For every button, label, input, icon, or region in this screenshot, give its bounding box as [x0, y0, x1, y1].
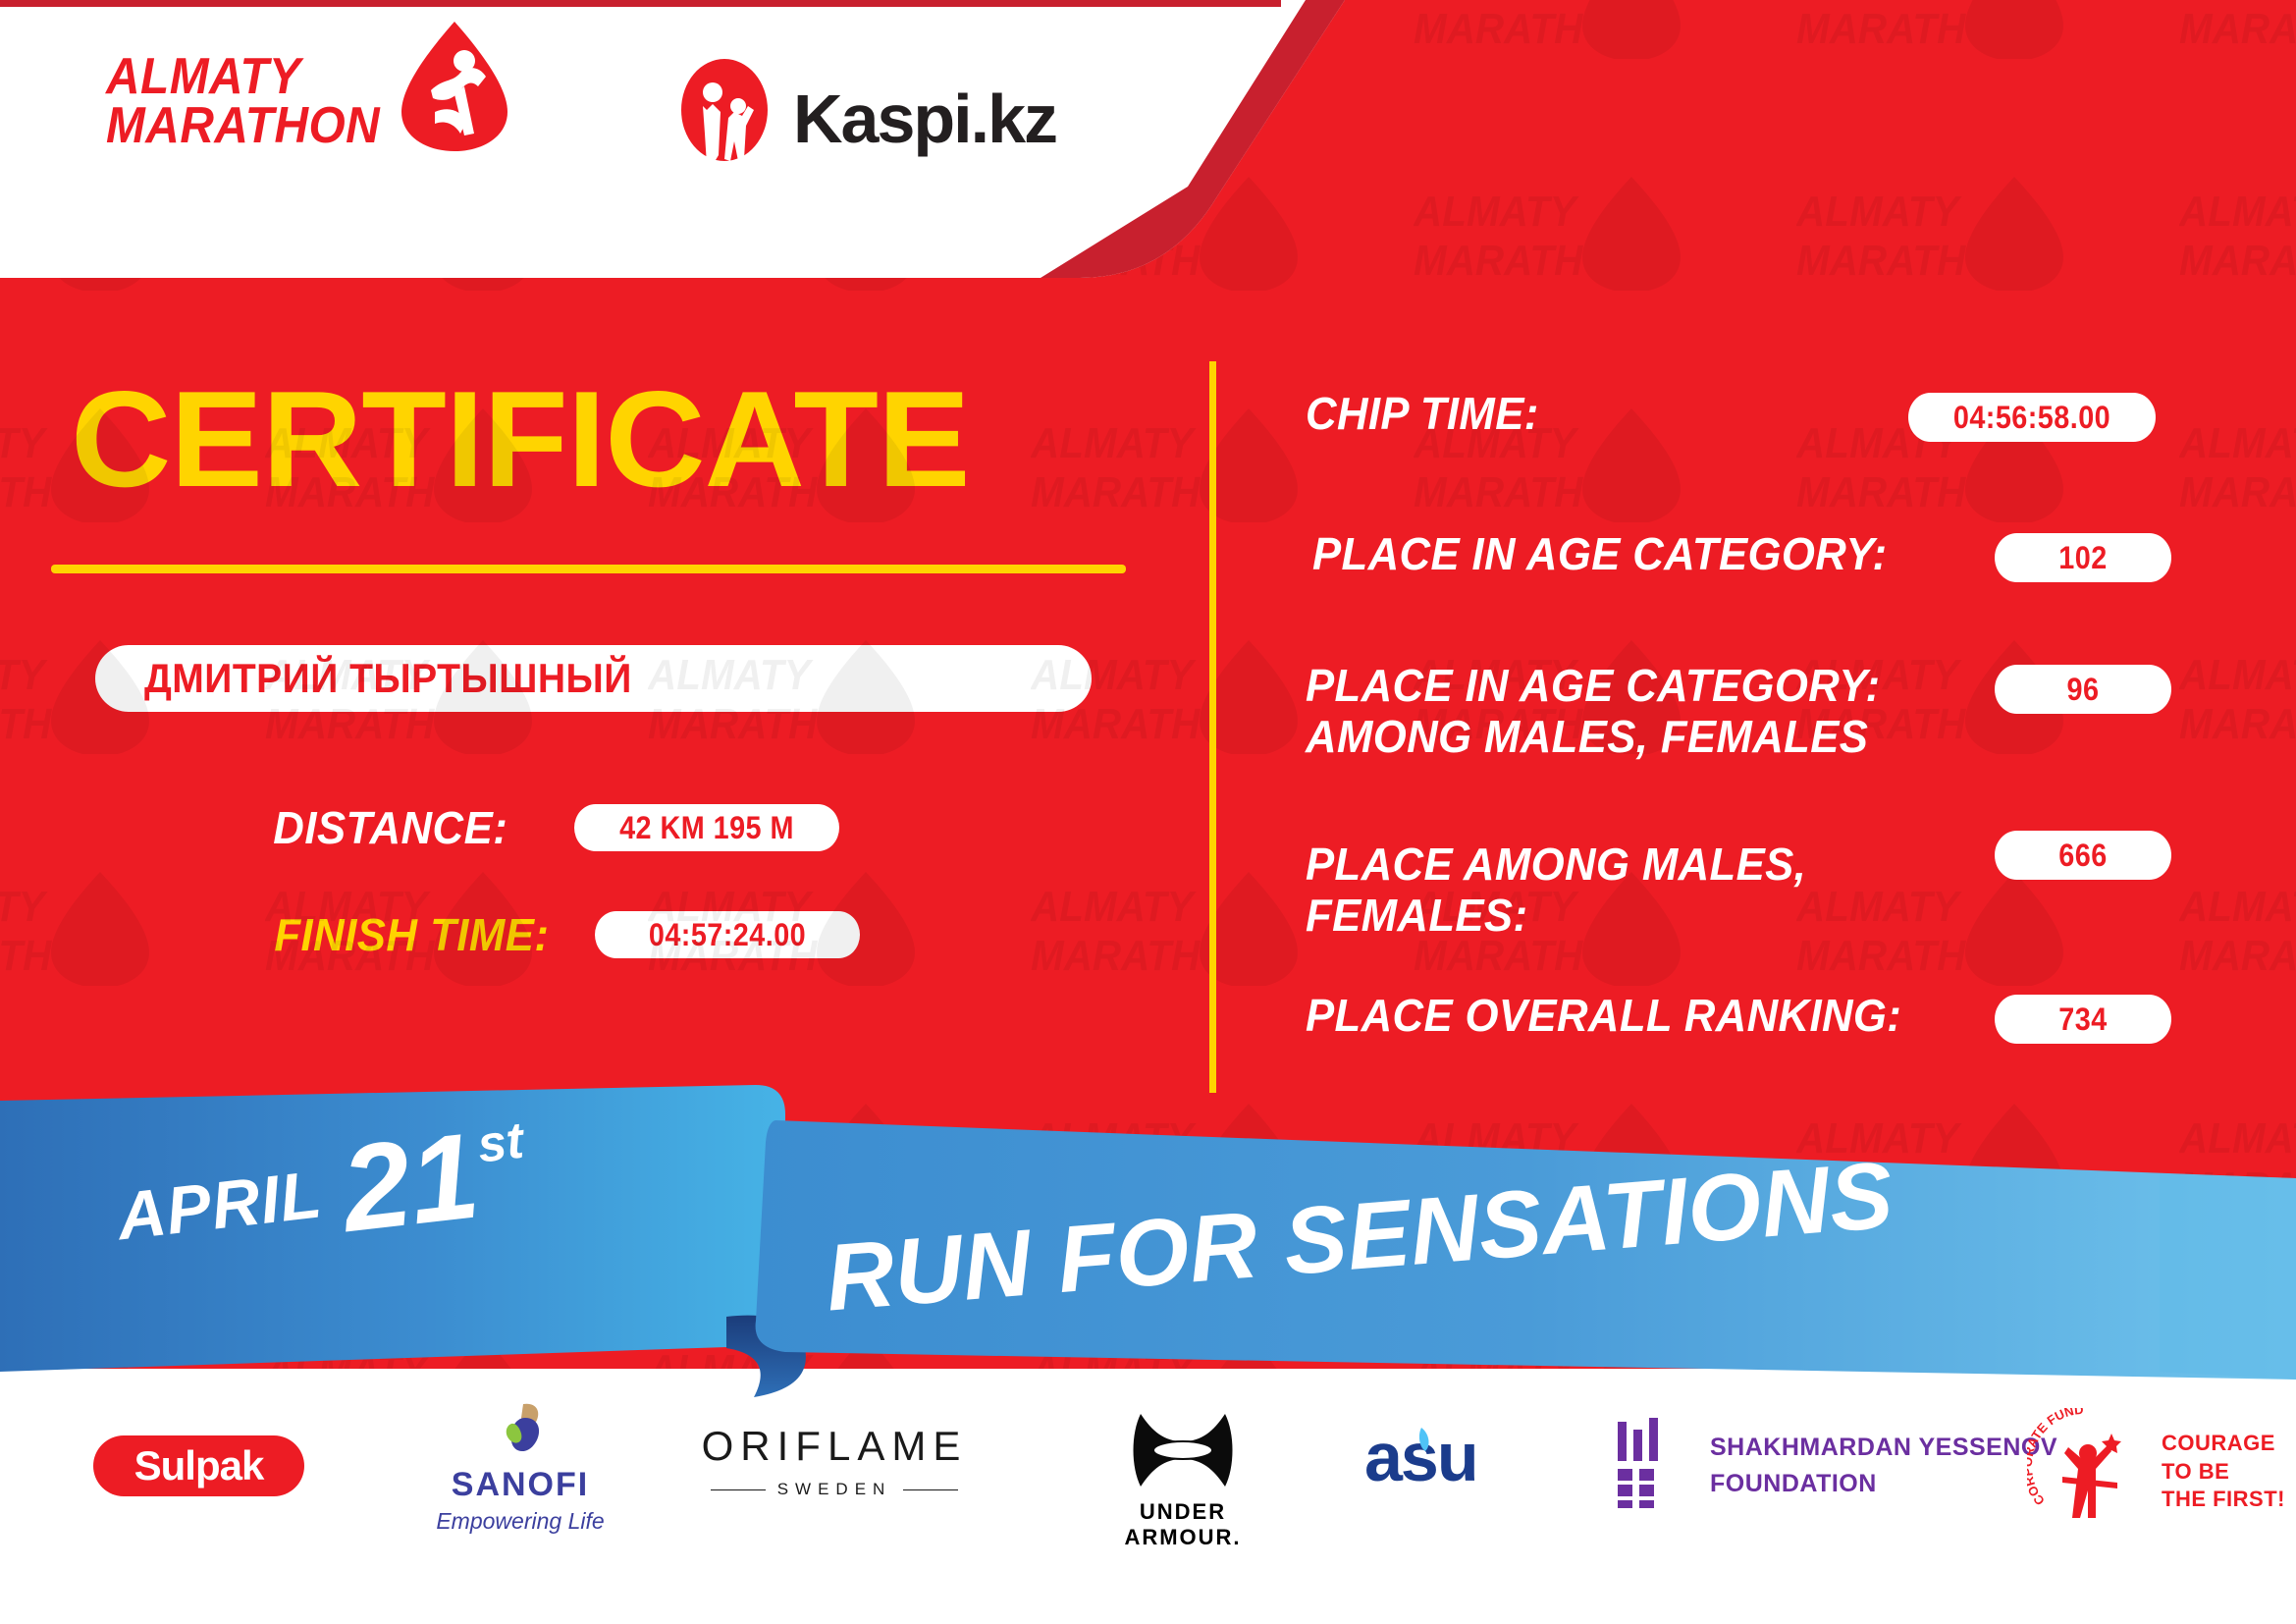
oriflame-wordmark: ORIFLAME — [687, 1423, 982, 1470]
yessenov-wordmark: SHAKHMARDAN YESSENOV FOUNDATION — [1710, 1430, 2057, 1501]
svg-text:MARATHON: MARATHON — [1414, 4, 1643, 52]
distance-label: DISTANCE: — [273, 801, 507, 854]
svg-text:ALMATY: ALMATY — [0, 650, 48, 698]
sponsor-oriflame-logo: ORIFLAME SWEDEN — [687, 1423, 982, 1499]
event-day-suffix: st — [475, 1111, 527, 1175]
oriflame-tagline: SWEDEN — [687, 1480, 982, 1499]
place-among-males-females-row: PLACE AMONG MALES, FEMALES: — [1306, 839, 1953, 941]
distance-value: 42 KM 195 M — [574, 804, 839, 851]
watermark-tile: ALMATYMARATHON — [2179, 636, 2296, 754]
svg-text:ALMATY: ALMATY — [2179, 418, 2296, 466]
watermark-tile: ALMATYMARATHON — [1031, 868, 1325, 986]
sulpak-wordmark: Sulpak — [134, 1442, 264, 1489]
asu-wordmark-icon: asu — [1364, 1484, 1531, 1500]
svg-text:ALMATY: ALMATY — [1796, 187, 1962, 235]
svg-text:ALMATY: ALMATY — [2179, 882, 2296, 930]
yessenov-line-2: FOUNDATION — [1710, 1466, 2057, 1501]
sponsor-under-armour-logo: UNDER ARMOUR. — [1080, 1412, 1286, 1550]
sanofi-mark-icon — [490, 1448, 551, 1465]
almaty-marathon-wordmark: ALMATY MARATHON — [106, 53, 403, 151]
place-overall-ranking-label: PLACE OVERALL RANKING: — [1306, 991, 1901, 1042]
athlete-name-value: ДМИТРИЙ ТЫРТЫШНЫЙ — [144, 655, 632, 702]
place-overall-ranking-row: PLACE OVERALL RANKING: — [1306, 991, 1933, 1042]
sponsor-yessenov-logo: SHAKHMARDAN YESSENOV FOUNDATION — [1610, 1418, 2057, 1513]
watermark-tile: ALMATYMARATHON — [1414, 0, 1708, 59]
column-divider — [1209, 361, 1216, 1093]
kaspi-logo: Kaspi.kz — [677, 57, 1056, 180]
svg-text:MARATHON: MARATHON — [1796, 236, 2026, 284]
finish-time-row: FINISH TIME: 04:57:24.00 — [267, 908, 875, 961]
svg-text:MARATHON: MARATHON — [1414, 236, 1643, 284]
courage-line-1: COURAGE — [2162, 1430, 2285, 1458]
watermark-tile: ALMATYMARATHON — [0, 868, 177, 986]
watermark-tile: ALMATYMARATHON — [1796, 0, 2091, 59]
sponsor-asu-logo: asu — [1360, 1420, 1536, 1501]
svg-text:ALMATY: ALMATY — [2179, 187, 2296, 235]
kaspi-wordmark: Kaspi.kz — [793, 80, 1056, 158]
watermark-tile: ALMATYMARATHON — [2179, 405, 2296, 522]
courage-wordmark: COURAGE TO BE THE FIRST! — [2162, 1430, 2285, 1514]
svg-text:MARATHON: MARATHON — [1031, 931, 1260, 979]
courage-figure-icon: CORPORATE FUND — [2027, 1408, 2150, 1536]
chip-time-row: CHIP TIME: — [1306, 389, 1551, 440]
header-top-accent-strip — [0, 0, 1281, 7]
svg-text:MARATHON: MARATHON — [0, 931, 112, 979]
kaspi-people-logo-icon — [677, 57, 772, 180]
certificate-canvas: ALMATYMARATHONALMATYMARATHONALMATYMARATH… — [0, 0, 2296, 1624]
sponsor-sulpak-logo: Sulpak — [93, 1435, 304, 1496]
place-age-category-among-row: PLACE IN AGE CATEGORY: AMONG MALES, FEMA… — [1306, 661, 1953, 762]
svg-text:MARATHON: MARATHON — [2179, 467, 2296, 515]
athlete-name-field: ДМИТРИЙ ТЫРТЫШНЫЙ — [95, 645, 1092, 712]
sponsor-courage-logo: CORPORATE FUND COURAGE TO BE THE FIRST! — [2027, 1408, 2285, 1536]
chip-time-label: CHIP TIME: — [1306, 389, 1539, 440]
almaty-line: ALMATY — [106, 53, 380, 102]
svg-text:ALMATY: ALMATY — [0, 418, 48, 466]
place-age-category-among-label: PLACE IN AGE CATEGORY: AMONG MALES, FEMA… — [1306, 661, 1880, 762]
sanofi-wordmark: SANOFI — [407, 1466, 633, 1504]
finish-time-value: 04:57:24.00 — [595, 911, 860, 958]
courage-line-2: TO BE — [2162, 1458, 2285, 1487]
yessenov-mark-icon — [1610, 1418, 1688, 1513]
place-age-category-label: PLACE IN AGE CATEGORY: — [1312, 529, 1887, 580]
under-armour-mark-icon — [1119, 1476, 1247, 1492]
page-title: CERTIFICATE — [71, 371, 970, 508]
watermark-tile: ALMATYMARATHON — [2179, 868, 2296, 986]
watermark-tile: ALMATYMARATHON — [2179, 173, 2296, 291]
chip-time-value: 04:56:58.00 — [1908, 393, 2156, 442]
under-armour-wordmark: UNDER ARMOUR. — [1080, 1499, 1286, 1550]
distance-row: DISTANCE: 42 KM 195 M — [267, 801, 854, 854]
svg-text:ALMATY: ALMATY — [1031, 882, 1197, 930]
sanofi-tagline: Empowering Life — [407, 1508, 633, 1535]
svg-text:MARATHON: MARATHON — [2179, 4, 2296, 52]
courage-line-3: THE FIRST! — [2162, 1486, 2285, 1514]
runner-drop-logo-icon — [396, 18, 513, 160]
watermark-tile: ALMATYMARATHON — [1796, 173, 2091, 291]
watermark-tile: ALMATYMARATHON — [2179, 0, 2296, 59]
watermark-tile: ALMATYMARATHON — [1031, 405, 1325, 522]
svg-text:MARATHON: MARATHON — [2179, 699, 2296, 747]
svg-text:MARATHON: MARATHON — [1031, 467, 1260, 515]
finish-time-label: FINISH TIME: — [274, 908, 549, 961]
marathon-line: MARATHON — [106, 102, 380, 151]
svg-text:ALMATY: ALMATY — [1414, 187, 1579, 235]
svg-text:ALMATY: ALMATY — [1796, 0, 1962, 3]
almaty-marathon-logo: ALMATY MARATHON — [106, 43, 513, 160]
svg-text:MARATHON: MARATHON — [0, 699, 112, 747]
svg-text:ALMATY: ALMATY — [1031, 418, 1197, 466]
svg-text:ALMATY: ALMATY — [2179, 650, 2296, 698]
place-age-category-among-value: 96 — [1995, 665, 2171, 714]
place-among-males-females-label: PLACE AMONG MALES, FEMALES: — [1306, 839, 1806, 941]
yessenov-line-1: SHAKHMARDAN YESSENOV — [1710, 1430, 2057, 1465]
place-overall-ranking-value: 734 — [1995, 995, 2171, 1044]
sponsor-logos: Sulpak SANOFI Empowering Life ORIFLAME S… — [0, 1379, 2296, 1624]
sponsor-sanofi-logo: SANOFI Empowering Life — [407, 1400, 633, 1535]
place-age-category-row: PLACE IN AGE CATEGORY: — [1312, 529, 1917, 580]
svg-text:MARATHON: MARATHON — [1796, 4, 2026, 52]
event-month: APRIL — [113, 1156, 325, 1255]
svg-text:MARATHON: MARATHON — [2179, 236, 2296, 284]
svg-text:ALMATY: ALMATY — [2179, 0, 2296, 3]
svg-text:MARATHON: MARATHON — [1414, 467, 1643, 515]
svg-text:ALMATY: ALMATY — [0, 882, 48, 930]
title-underline — [51, 565, 1126, 573]
place-age-category-value: 102 — [1995, 533, 2171, 582]
svg-text:MARATHON: MARATHON — [2179, 931, 2296, 979]
watermark-tile: ALMATYMARATHON — [1414, 173, 1708, 291]
event-day: 21 — [338, 1127, 484, 1242]
svg-text:ALMATY: ALMATY — [1414, 0, 1579, 3]
place-among-males-females-value: 666 — [1995, 831, 2171, 880]
svg-text:MARATHON: MARATHON — [1796, 467, 2026, 515]
